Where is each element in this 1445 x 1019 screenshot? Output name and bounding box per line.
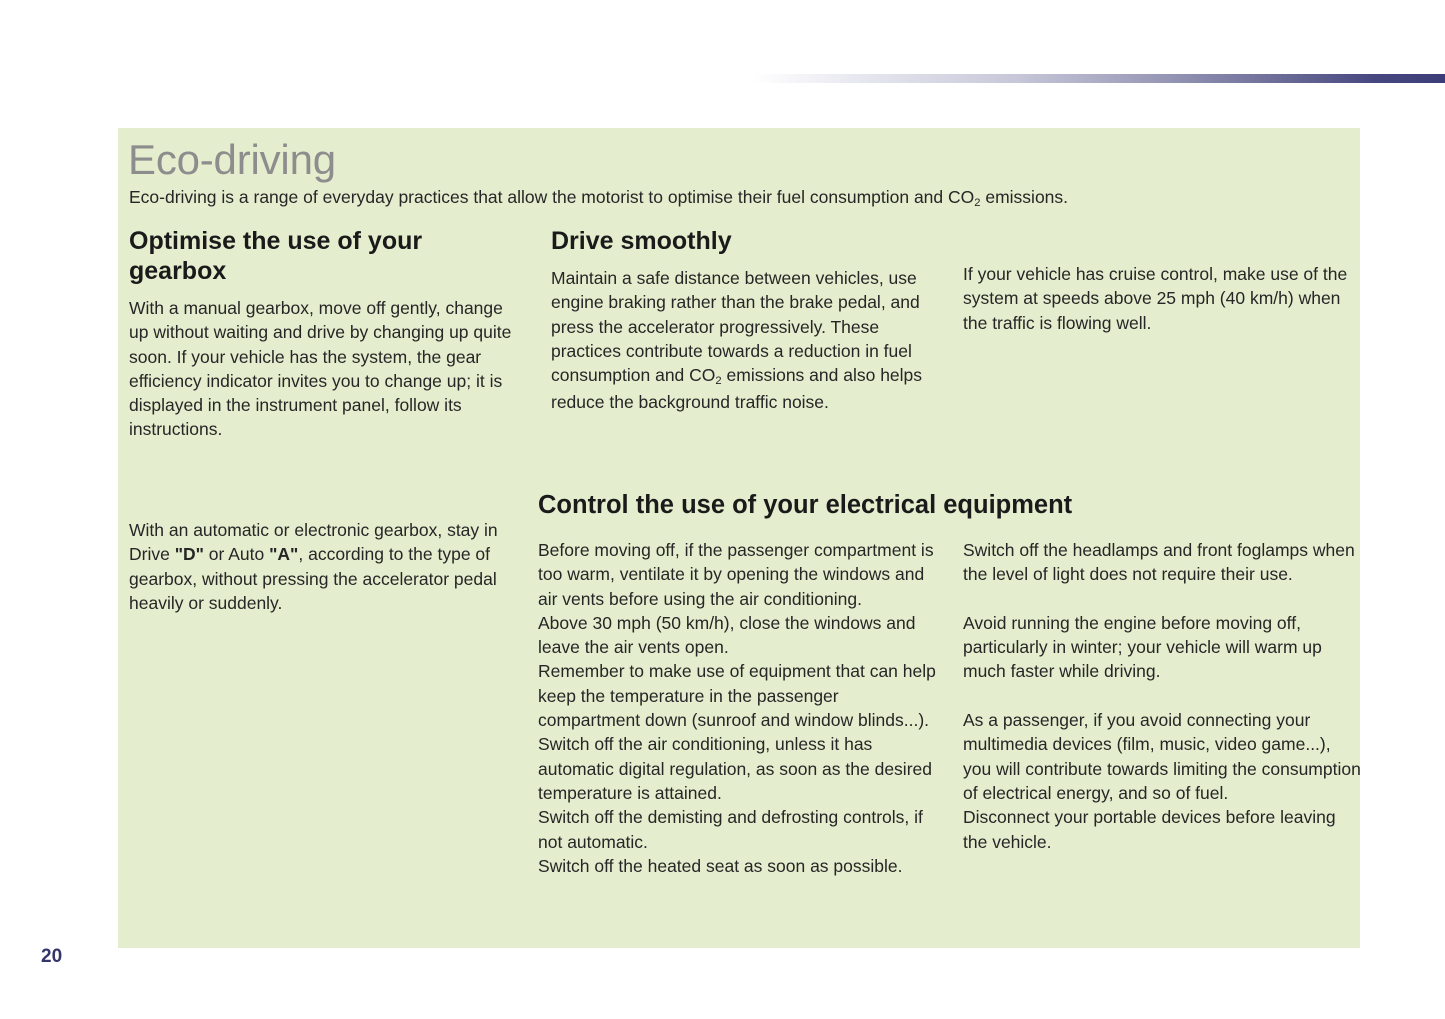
electrical-right-column: Switch off the headlamps and front fogla…: [963, 538, 1363, 854]
gearbox-drive-d-label: "D": [175, 544, 204, 564]
electrical-left-paragraph: Before moving off, if the passenger comp…: [538, 538, 938, 878]
heading-drive-smoothly: Drive smoothly: [551, 226, 943, 256]
gearbox-auto-a-label: "A": [269, 544, 298, 564]
gearbox-paragraph-2: With an automatic or electronic gearbox,…: [129, 518, 519, 615]
page-intro-subscript: 2: [974, 197, 980, 209]
electrical-right-paragraph-2: Avoid running the engine before moving o…: [963, 611, 1363, 684]
drive-smoothly-paragraph: Maintain a safe distance between vehicle…: [551, 266, 943, 415]
section-gearbox-automatic: With an automatic or electronic gearbox,…: [129, 518, 519, 615]
section-gearbox: Optimise the use of your gearbox With a …: [129, 226, 519, 442]
section-electrical-equipment: Control the use of your electrical equip…: [538, 490, 1363, 534]
page-intro: Eco-driving is a range of everyday pract…: [129, 186, 1068, 211]
header-accent-bar: [753, 74, 1445, 83]
heading-optimise-gearbox: Optimise the use of your gearbox: [129, 226, 519, 286]
electrical-right-paragraph-1: Switch off the headlamps and front fogla…: [963, 538, 1363, 587]
electrical-right-paragraph-3: As a passenger, if you avoid connecting …: [963, 708, 1363, 854]
page-title: Eco-driving: [128, 136, 336, 184]
drive-smoothly-subscript: 2: [715, 375, 721, 387]
page-intro-text-after: emissions.: [981, 187, 1069, 207]
gearbox-paragraph-1: With a manual gearbox, move off gently, …: [129, 296, 519, 442]
cruise-control-paragraph: If your vehicle has cruise control, make…: [963, 262, 1363, 335]
page-intro-text-before: Eco-driving is a range of everyday pract…: [129, 187, 974, 207]
content-panel: Eco-driving Eco-driving is a range of ev…: [118, 128, 1360, 948]
section-cruise-control: If your vehicle has cruise control, make…: [963, 262, 1363, 335]
gearbox-p2-part-2: or Auto: [204, 544, 269, 564]
heading-control-electrical-equipment: Control the use of your electrical equip…: [538, 490, 1363, 520]
page-number: 20: [41, 946, 62, 968]
electrical-left-column: Before moving off, if the passenger comp…: [538, 538, 938, 878]
section-drive-smoothly: Drive smoothly Maintain a safe distance …: [551, 226, 943, 415]
